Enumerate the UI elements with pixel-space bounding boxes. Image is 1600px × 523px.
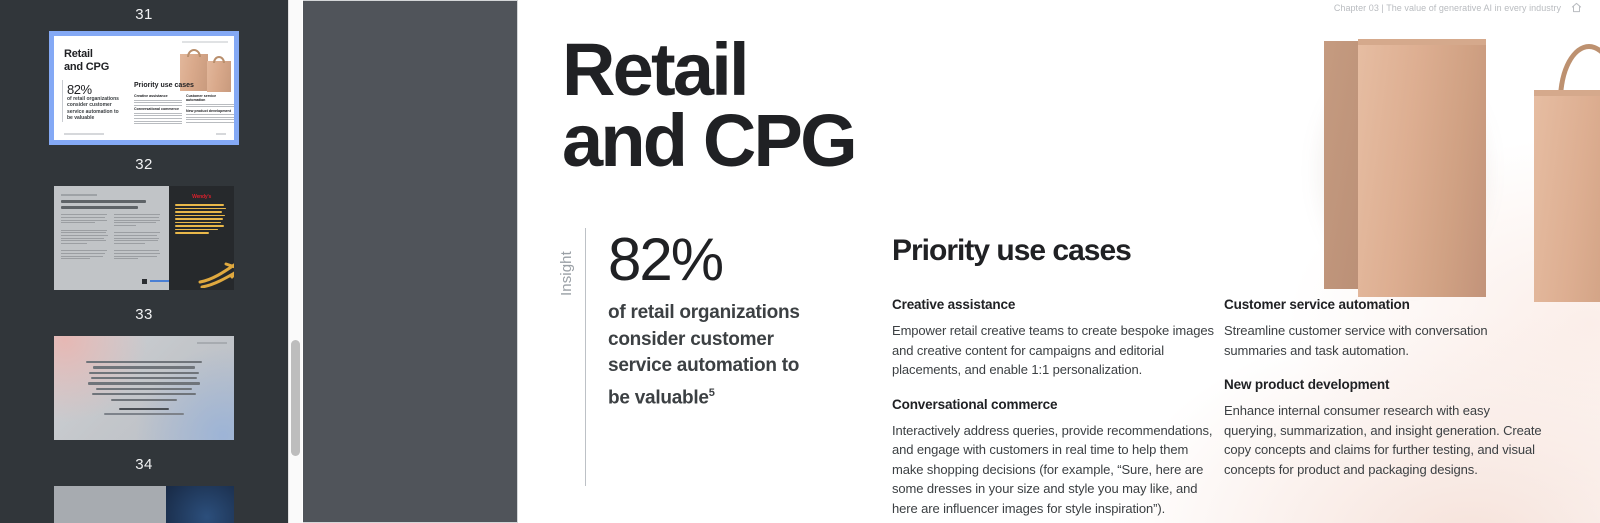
mini34-right [166,486,234,523]
thumbnail-31-preview: Retailand CPG 82% of retail organization… [54,36,234,140]
current-slide[interactable]: Chapter 03 | The value of generative AI … [528,0,1600,523]
usecase-description: Interactively address queries, provide r… [892,421,1214,519]
thumbnail-group-32[interactable]: 32 [0,156,288,290]
insight-text-body: of retail organizations consider custome… [608,302,800,408]
slide-header: Chapter 03 | The value of generative AI … [1334,2,1582,13]
mini-title-line2: and CPG [64,61,109,73]
page-gap [518,0,528,523]
mini32-eyebrow [61,194,97,196]
mini-bag-small [207,61,231,92]
mini-stat-text: of retail organizations consider custome… [67,96,119,122]
mini32-col-b [114,214,162,261]
mini-column-left: Creative assistance Conversational comme… [134,94,182,126]
usecase-item: New product development Enhance internal… [1224,376,1542,479]
thumbnail-31[interactable]: Retailand CPG 82% of retail organization… [54,36,234,140]
mini32-headline-1 [61,200,146,203]
usecase-item: Customer service automation Streamline c… [1224,296,1542,360]
thumbnail-33[interactable] [54,336,234,440]
thumbnail-group-31[interactable]: 31 Retailand CPG 82% of retail organizat… [0,6,288,140]
breadcrumb: Chapter 03 | The value of generative AI … [1334,3,1561,13]
mini-case-title-4: New product development [186,109,234,113]
usecase-title: Conversational commerce [892,396,1214,414]
usecase-title: Creative assistance [892,296,1214,314]
mini33-header-rule [197,342,227,344]
sidebar-scrollbar[interactable] [288,0,302,523]
thumbnail-sidebar[interactable]: 31 Retailand CPG 82% of retail organizat… [0,0,288,523]
insight-block: Insight 82% of retail organizations cons… [558,228,818,486]
bag-front-large [1358,39,1486,297]
thumbnail-group-34[interactable]: 34 [0,456,288,523]
shopping-bags-photo [1300,16,1600,306]
bag-top-large [1358,39,1486,45]
mini-title-line1: Retail [64,48,93,60]
usecases-column-left: Creative assistance Empower retail creat… [892,296,1214,523]
usecase-title: Customer service automation [1224,296,1542,314]
mini32-right-page: Wendy's [169,186,234,290]
insight-text: of retail organizations consider custome… [608,300,818,411]
insight-stat: 82% [608,230,818,290]
mini-case-title-2: Conversational commerce [134,107,182,111]
thumbnail-34[interactable] [54,486,234,523]
mini33-quote-lines [86,361,201,404]
mini32-arrow-icon [198,262,234,288]
insight-footnote-marker: 5 [709,387,715,399]
thumbnail-page-number-32: 32 [0,156,288,176]
sidebar-scrollbar-thumb[interactable] [291,340,300,456]
usecase-description: Empower retail creative teams to create … [892,321,1214,380]
mini32-col-a [61,214,109,261]
mini-case-lines-1 [134,100,182,106]
usecase-description: Enhance internal consumer research with … [1224,401,1542,479]
usecases-column-right: Customer service automation Streamline c… [1224,296,1542,495]
thumbnail-33-preview [54,336,234,440]
usecases-heading: Priority use cases [892,234,1131,268]
mini-case-lines-2 [134,113,182,124]
mini34-left [54,486,166,523]
mini32-brand: Wendy's [175,194,228,200]
bag-top-small [1534,90,1600,96]
bag-side-large [1324,41,1360,289]
thumbnail-page-number-31: 31 [0,6,288,26]
mini-page-number-rule [216,133,226,135]
thumbnail-group-33[interactable]: 33 [0,306,288,440]
mini33-attribution [54,408,234,417]
mini-case-lines-4 [186,114,234,123]
previous-page-preview[interactable] [303,0,518,523]
insight-label: Insight [558,228,575,296]
thumbnail-page-number-34: 34 [0,456,288,476]
mini32-columns [61,214,162,261]
thumbnail-page-number-33: 33 [0,306,288,326]
mini-title: Retailand CPG [64,48,109,73]
usecase-description: Streamline customer service with convers… [1224,321,1542,360]
usecase-item: Conversational commerce Interactively ad… [892,396,1214,519]
mini32-headline-2 [61,206,138,209]
page-title-line2: and CPG [562,99,855,182]
mini-stat: 82% [67,82,92,97]
usecase-title: New product development [1224,376,1542,394]
mini-case-title-1: Creative assistance [134,94,182,98]
mini32-link-icon [142,279,147,284]
mini-usecases-heading: Priority use cases [134,82,194,89]
mini-column-right: Customer service automation New product … [186,94,234,125]
thumbnail-34-preview [54,486,234,523]
mini-bag-handle-large [187,49,201,57]
bag-front-small [1534,90,1600,302]
thumbnail-32-preview: Wendy's [54,186,234,290]
thumbnail-32[interactable]: Wendy's [54,186,234,290]
usecase-item: Creative assistance Empower retail creat… [892,296,1214,380]
mini32-quote [175,204,228,234]
page-title: Retailand CPG [562,34,855,176]
insight-divider [585,228,586,486]
mini-case-lines-3 [186,104,234,108]
mini-insight-rule [62,80,63,122]
home-icon[interactable] [1571,2,1582,13]
mini32-left-page [54,186,169,290]
mini-footer-rule [64,133,104,135]
slide-viewer-window: 31 Retailand CPG 82% of retail organizat… [0,0,1600,523]
mini-case-title-3: Customer service automation [186,94,234,102]
mini-bag-handle-small [213,56,225,63]
insight-body: 82% of retail organizations consider cus… [608,228,818,486]
